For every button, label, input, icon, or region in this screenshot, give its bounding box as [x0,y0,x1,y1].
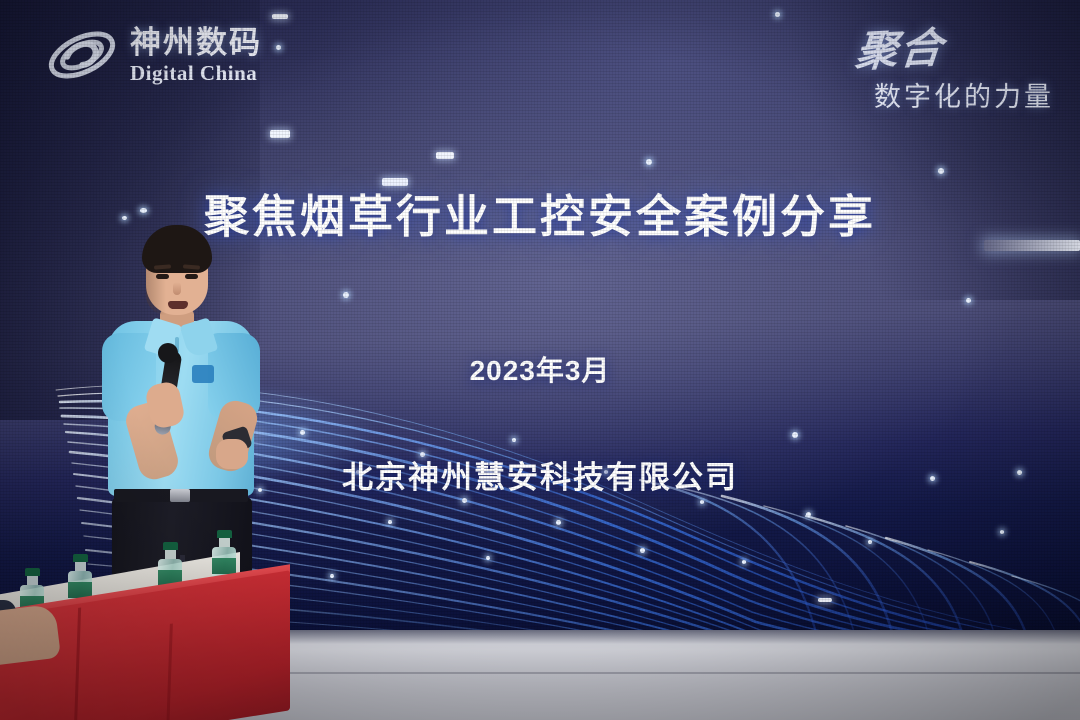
presenter-right-hand [216,439,248,469]
digital-china-logo: 神州数码 Digital China [44,24,262,86]
presenter-nose [173,282,181,295]
digital-china-swirl-icon [44,24,120,86]
presenter-mouth [168,301,188,309]
bottle-label [212,558,236,574]
head-table [0,560,320,720]
presenter-shirt-emblem-icon [192,365,214,383]
microphone-head [158,343,178,363]
conference-stage-photo: 神州数码 Digital China 聚合 数字化的力量 聚焦烟草行业工控安全案… [0,0,1080,720]
event-slogan: 聚合 数字化的力量 [856,16,1054,114]
seated-attendee-arm [0,604,61,667]
bottle-cap [25,568,40,576]
bottle-cap [217,530,232,538]
slogan-subtitle: 数字化的力量 [856,75,1054,114]
bottle-neck [165,550,176,559]
brand-name-en: Digital China [130,63,262,84]
presenter-hair [142,225,212,273]
bottle-cap [73,554,88,562]
bottle-neck [27,576,38,585]
bottle-cap [163,542,178,550]
slogan-calligraphy: 聚合 [853,14,947,80]
presenter-eye-right [185,274,198,279]
bottle-neck [75,562,86,571]
presenter-belt-buckle [170,489,190,502]
presenter-eye-left [156,274,169,279]
bottle-neck [219,538,230,547]
brand-name-cn: 神州数码 [130,27,262,58]
